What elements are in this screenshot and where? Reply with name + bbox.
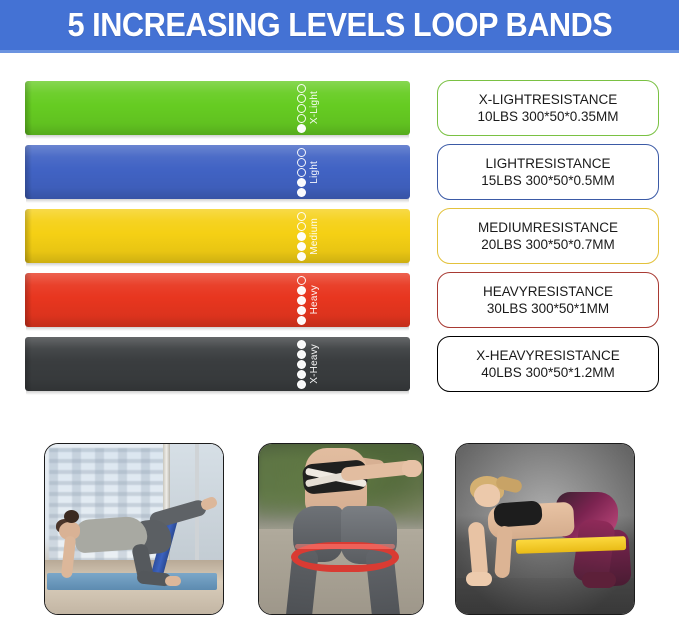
usage-photo-yellow-band bbox=[455, 443, 635, 615]
level-dot bbox=[297, 148, 306, 157]
band-surface bbox=[25, 337, 410, 391]
level-dot-indicator bbox=[297, 84, 306, 133]
level-dot bbox=[297, 178, 306, 187]
band-level-label: X-Light bbox=[310, 91, 320, 124]
band-marking: Heavy bbox=[297, 273, 320, 327]
level-dot bbox=[297, 340, 306, 349]
level-dot-indicator bbox=[297, 212, 306, 261]
level-dot bbox=[297, 104, 306, 113]
level-dot-indicator bbox=[297, 340, 306, 389]
level-row: X-Light X-LIGHTRESISTANCE 10LBS 300*50*0… bbox=[0, 81, 679, 137]
band-surface bbox=[25, 145, 410, 199]
photo-scene-studio-plank bbox=[456, 444, 634, 614]
band-level-label: Light bbox=[310, 161, 320, 184]
level-dot bbox=[297, 212, 306, 221]
band-marking: Medium bbox=[297, 209, 320, 263]
level-dot-indicator bbox=[297, 276, 306, 325]
band-surface bbox=[25, 273, 410, 327]
level-dot bbox=[297, 188, 306, 197]
level-dot bbox=[297, 296, 306, 305]
photo-scene-indoor-gym bbox=[45, 444, 223, 614]
spec-card-medium: MEDIUMRESISTANCE 20LBS 300*50*0.7MM bbox=[437, 208, 659, 264]
spec-title: MEDIUMRESISTANCE bbox=[478, 220, 618, 235]
spec-title: X-LIGHTRESISTANCE bbox=[479, 92, 618, 107]
band-surface bbox=[25, 209, 410, 263]
resistance-levels-section: X-Light X-LIGHTRESISTANCE 10LBS 300*50*0… bbox=[0, 53, 679, 423]
band-surface bbox=[25, 81, 410, 135]
level-dot bbox=[297, 350, 306, 359]
band-marking: X-Heavy bbox=[297, 337, 320, 391]
level-dot-indicator bbox=[297, 148, 306, 197]
level-dot bbox=[297, 306, 306, 315]
level-dot bbox=[297, 252, 306, 261]
band-swatch-x-heavy: X-Heavy bbox=[25, 337, 410, 391]
band-level-label: Medium bbox=[310, 218, 320, 255]
spec-card-heavy: HEAVYRESISTANCE 30LBS 300*50*1MM bbox=[437, 272, 659, 328]
band-swatch-light: Light bbox=[25, 145, 410, 199]
level-dot bbox=[297, 168, 306, 177]
level-row: Medium MEDIUMRESISTANCE 20LBS 300*50*0.7… bbox=[0, 209, 679, 265]
band-marking: Light bbox=[297, 145, 320, 199]
band-swatch-heavy: Heavy bbox=[25, 273, 410, 327]
level-row: Light LIGHTRESISTANCE 15LBS 300*50*0.5MM bbox=[0, 145, 679, 201]
spec-detail: 10LBS 300*50*0.35MM bbox=[477, 109, 618, 124]
spec-card-x-heavy: X-HEAVYRESISTANCE 40LBS 300*50*1.2MM bbox=[437, 336, 659, 392]
level-dot bbox=[297, 222, 306, 231]
level-dot bbox=[297, 380, 306, 389]
level-row: Heavy HEAVYRESISTANCE 30LBS 300*50*1MM bbox=[0, 273, 679, 329]
level-dot bbox=[297, 124, 306, 133]
level-dot bbox=[297, 286, 306, 295]
spec-detail: 15LBS 300*50*0.5MM bbox=[481, 173, 615, 188]
spec-detail: 40LBS 300*50*1.2MM bbox=[481, 365, 615, 380]
band-swatch-medium: Medium bbox=[25, 209, 410, 263]
spec-title: X-HEAVYRESISTANCE bbox=[476, 348, 620, 363]
level-dot bbox=[297, 316, 306, 325]
level-dot bbox=[297, 370, 306, 379]
level-dot bbox=[297, 242, 306, 251]
header-banner: 5 INCREASING LEVELS LOOP BANDS bbox=[0, 0, 679, 53]
band-swatch-x-light: X-Light bbox=[25, 81, 410, 135]
person-figure bbox=[53, 500, 173, 586]
level-dot bbox=[297, 276, 306, 285]
page-title: 5 INCREASING LEVELS LOOP BANDS bbox=[67, 6, 612, 44]
band-level-label: X-Heavy bbox=[310, 344, 320, 384]
band-level-label: Heavy bbox=[310, 285, 320, 314]
band-marking: X-Light bbox=[297, 81, 320, 135]
spec-title: HEAVYRESISTANCE bbox=[483, 284, 613, 299]
usage-photo-blue-band bbox=[44, 443, 224, 615]
spec-card-x-light: X-LIGHTRESISTANCE 10LBS 300*50*0.35MM bbox=[437, 80, 659, 136]
spec-detail: 20LBS 300*50*0.7MM bbox=[481, 237, 615, 252]
level-row: X-Heavy X-HEAVYRESISTANCE 40LBS 300*50*1… bbox=[0, 337, 679, 393]
level-dot bbox=[297, 232, 306, 241]
level-dot bbox=[297, 360, 306, 369]
usage-photo-red-band bbox=[258, 443, 424, 615]
photo-scene-outdoor-squat bbox=[259, 444, 423, 614]
level-dot bbox=[297, 114, 306, 123]
level-dot bbox=[297, 158, 306, 167]
spec-card-light: LIGHTRESISTANCE 15LBS 300*50*0.5MM bbox=[437, 144, 659, 200]
level-dot bbox=[297, 84, 306, 93]
usage-photo-strip bbox=[0, 437, 679, 622]
level-dot bbox=[297, 94, 306, 103]
spec-detail: 30LBS 300*50*1MM bbox=[487, 301, 609, 316]
spec-title: LIGHTRESISTANCE bbox=[485, 156, 610, 171]
